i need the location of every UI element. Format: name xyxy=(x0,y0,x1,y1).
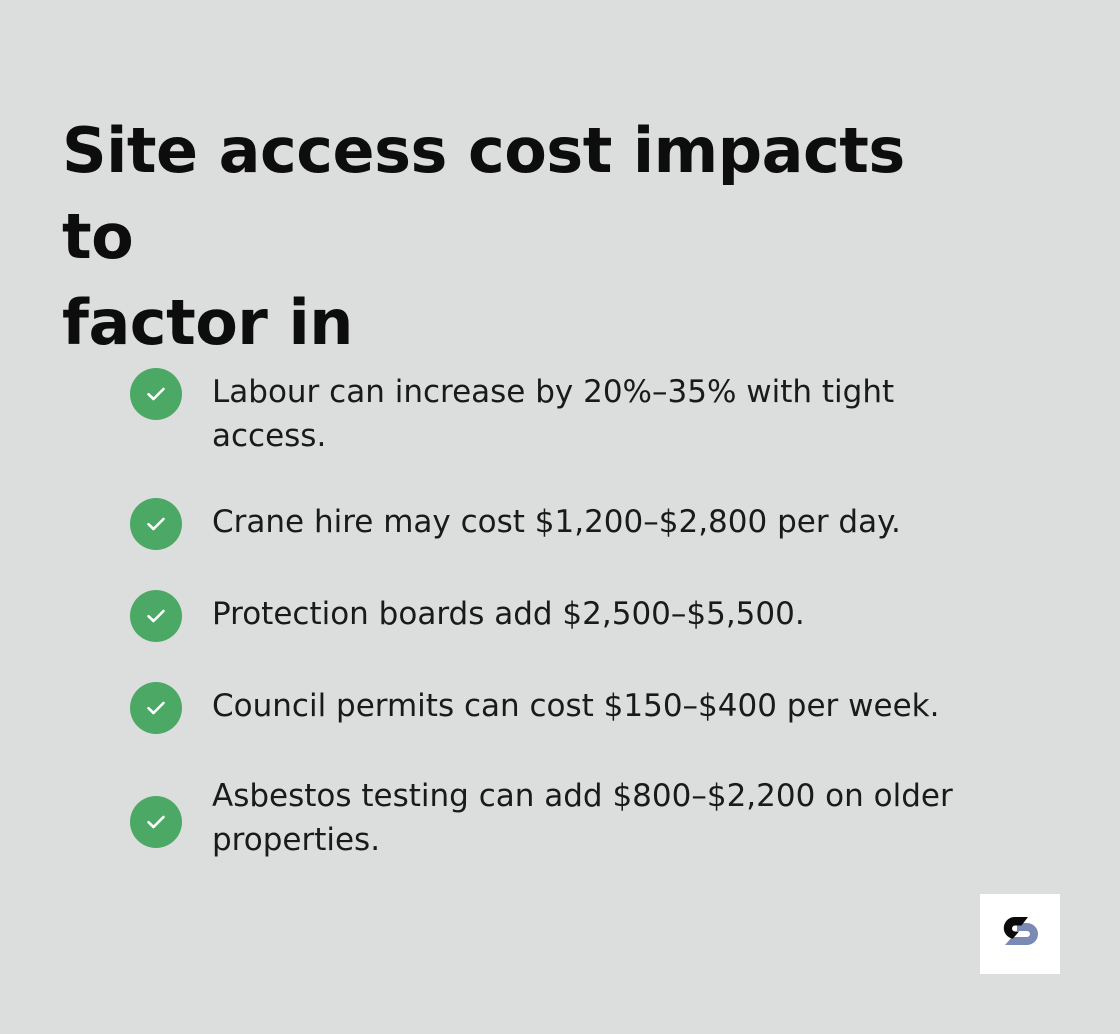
brand-logo xyxy=(980,894,1060,974)
check-circle-icon xyxy=(130,796,182,848)
list-item: Council permits can cost $150–$400 per w… xyxy=(130,682,1030,734)
title-block: Site access cost impacts to factor in xyxy=(62,108,962,366)
list-item-label: Protection boards add $2,500–$5,500. xyxy=(212,592,972,636)
list-item: Crane hire may cost $1,200–$2,800 per da… xyxy=(130,498,1030,550)
poster-canvas: Site access cost impacts to factor in La… xyxy=(0,0,1120,1034)
list-item: Labour can increase by 20%–35% with tigh… xyxy=(130,368,1030,458)
page-title: Site access cost impacts to factor in xyxy=(62,108,962,366)
check-circle-icon xyxy=(130,682,182,734)
list-item: Protection boards add $2,500–$5,500. xyxy=(130,590,1030,642)
list-item: Asbestos testing can add $800–$2,200 on … xyxy=(130,774,1030,862)
brand-logo-icon xyxy=(997,914,1043,954)
list-item-label: Labour can increase by 20%–35% with tigh… xyxy=(212,370,972,458)
list-item-label: Crane hire may cost $1,200–$2,800 per da… xyxy=(212,500,972,544)
list-item-label: Asbestos testing can add $800–$2,200 on … xyxy=(212,774,972,862)
check-circle-icon xyxy=(130,498,182,550)
benefit-checklist: Labour can increase by 20%–35% with tigh… xyxy=(130,368,1030,862)
check-circle-icon xyxy=(130,590,182,642)
list-item-label: Council permits can cost $150–$400 per w… xyxy=(212,684,972,728)
check-circle-icon xyxy=(130,368,182,420)
